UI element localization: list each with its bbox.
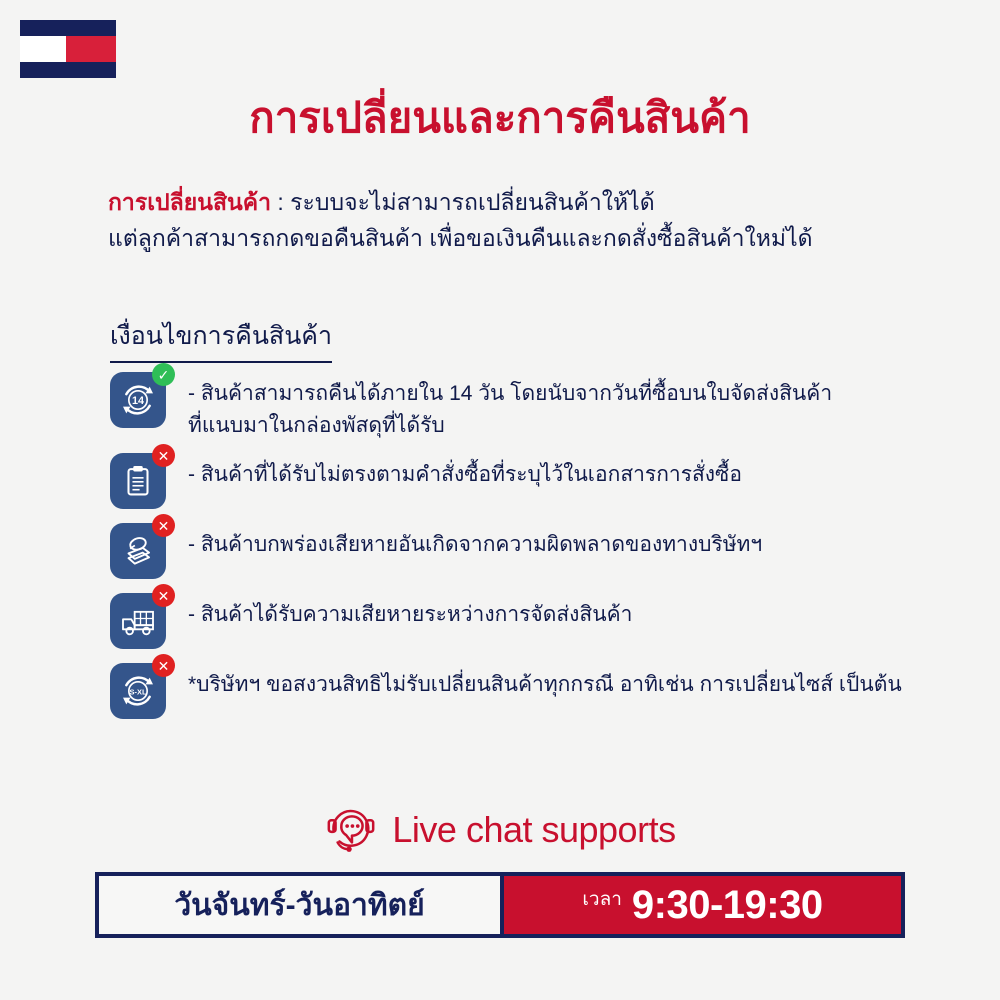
logo-white-block: [20, 36, 66, 62]
circular-arrows-size-glyph: S-XL: [118, 671, 158, 711]
svg-text:S-XL: S-XL: [129, 687, 147, 696]
opening-time-value: 9:30-19:30: [632, 883, 823, 928]
opening-hours-bar: วันจันทร์-วันอาทิตย์ เวลา 9:30-19:30: [95, 872, 905, 938]
list-item-text: - สินค้าที่ได้รับไม่ตรงตามคำสั่งซื้อที่ร…: [188, 453, 970, 491]
list-item-text-line-1: - สินค้าบกพร่องเสียหายอันเกิดจากความผิดพ…: [188, 533, 762, 556]
conditions-list: 14 ✓ - สินค้าสามารถคืนได้ภายใน 14 วัน โด…: [110, 372, 970, 733]
opening-days: วันจันทร์-วันอาทิตย์: [99, 876, 504, 934]
list-item-text: - สินค้าสามารถคืนได้ภายใน 14 วัน โดยนับจ…: [188, 372, 970, 441]
list-item: ✕ - สินค้าบกพร่องเสียหายอันเกิดจากความผิ…: [110, 523, 970, 581]
damaged-product-icon: ✕: [110, 523, 166, 579]
intro-paragraph: การเปลี่ยนสินค้า : ระบบจะไม่สามารถเปลี่ย…: [108, 185, 948, 256]
list-item-text: - สินค้าได้รับความเสียหายระหว่างการจัดส่…: [188, 593, 970, 631]
clipboard-document-icon: ✕: [110, 453, 166, 509]
logo-red-block: [66, 36, 116, 62]
intro-line-1: : ระบบจะไม่สามารถเปลี่ยนสินค้าให้ได้: [271, 189, 655, 215]
headset-chat-icon: [324, 800, 378, 859]
svg-text:14: 14: [132, 395, 144, 407]
brand-logo: [20, 20, 116, 78]
headset-chat-glyph: [324, 800, 378, 854]
delivery-truck-icon: ✕: [110, 593, 166, 649]
clipboard-glyph: [119, 462, 157, 500]
live-chat-label: Live chat supports: [392, 809, 675, 851]
list-item-text-line-1: - สินค้าได้รับความเสียหายระหว่างการจัดส่…: [188, 603, 632, 626]
status-badge: ✕: [152, 444, 175, 467]
list-item-text-line-1: *บริษัทฯ ขอสงวนสิทธิไม่รับเปลี่ยนสินค้าท…: [188, 673, 902, 696]
opening-time: เวลา 9:30-19:30: [504, 876, 901, 934]
return-14-days-icon: 14 ✓: [110, 372, 166, 428]
page-title: การเปลี่ยนและการคืนสินค้า: [0, 94, 1000, 142]
truck-glyph: [118, 601, 158, 641]
list-item-text-line-1: - สินค้าสามารถคืนได้ภายใน 14 วัน โดยนับจ…: [188, 382, 832, 405]
size-exchange-icon: S-XL ✕: [110, 663, 166, 719]
list-item: S-XL ✕ *บริษัทฯ ขอสงวนสิทธิไม่รับเปลี่ยน…: [110, 663, 970, 721]
status-badge: ✕: [152, 514, 175, 537]
opening-time-label: เวลา: [582, 884, 621, 914]
logo-bar-bottom: [20, 62, 116, 78]
list-item-text: - สินค้าบกพร่องเสียหายอันเกิดจากความผิดพ…: [188, 523, 970, 561]
status-badge: ✓: [152, 363, 175, 386]
list-item: ✕ - สินค้าที่ได้รับไม่ตรงตามคำสั่งซื้อที…: [110, 453, 970, 511]
logo-bar-top: [20, 20, 116, 36]
intro-line-2: แต่ลูกค้าสามารถกดขอคืนสินค้า เพื่อขอเงิน…: [108, 221, 948, 257]
list-item-text-line-2: ที่แนบมาในกล่องพัสดุที่ได้รับ: [188, 410, 970, 442]
status-badge: ✕: [152, 584, 175, 607]
circular-arrows-14-glyph: 14: [118, 380, 158, 420]
list-item-text: *บริษัทฯ ขอสงวนสิทธิไม่รับเปลี่ยนสินค้าท…: [188, 663, 970, 701]
logo-middle-band: [20, 36, 116, 62]
list-item-text-line-1: - สินค้าที่ได้รับไม่ตรงตามคำสั่งซื้อที่ร…: [188, 463, 742, 486]
conditions-heading: เงื่อนไขการคืนสินค้า: [110, 316, 332, 363]
list-item: ✕ - สินค้าได้รับความเสียหายระหว่างการจัด…: [110, 593, 970, 651]
list-item: 14 ✓ - สินค้าสามารถคืนได้ภายใน 14 วัน โด…: [110, 372, 970, 441]
live-chat-banner[interactable]: Live chat supports: [0, 800, 1000, 859]
status-badge: ✕: [152, 654, 175, 677]
broken-item-glyph: [119, 532, 157, 570]
intro-highlight: การเปลี่ยนสินค้า: [108, 189, 271, 215]
